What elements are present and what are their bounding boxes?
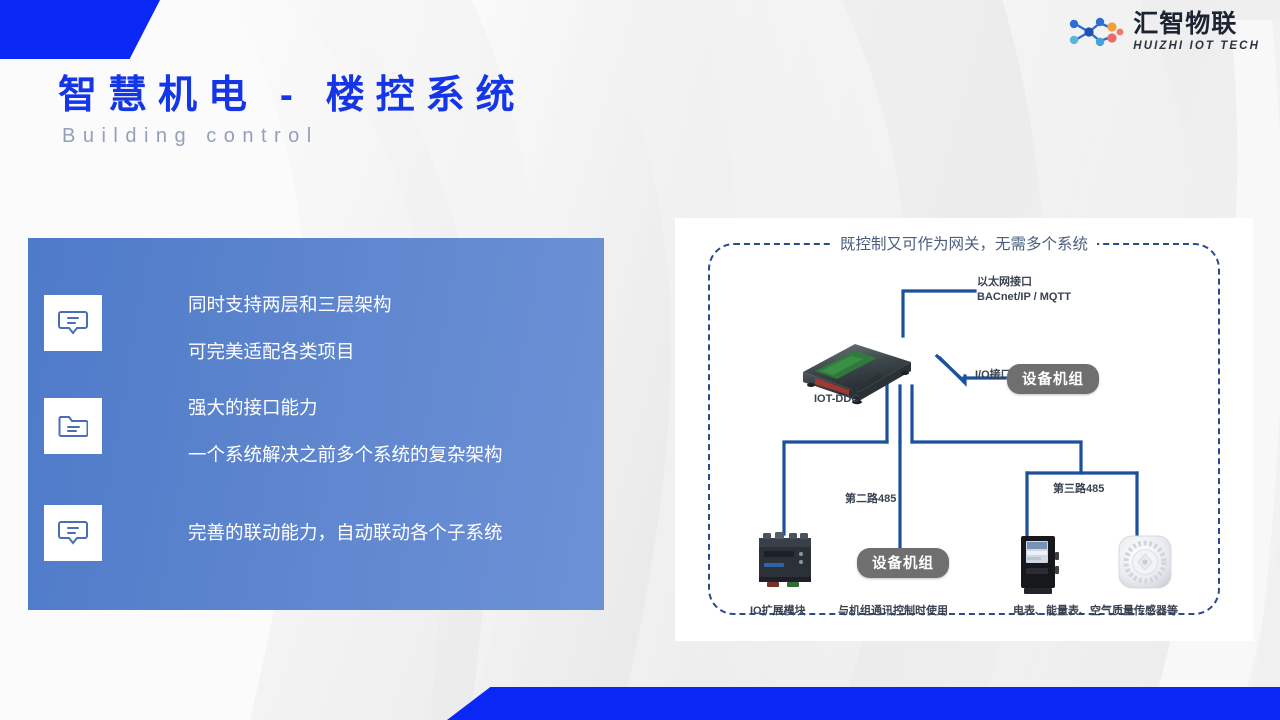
- feature-item-1-text: 同时支持两层和三层架构 可完美适配各类项目: [188, 296, 392, 361]
- equipment-unit-pill-bottom: 设备机组: [857, 548, 949, 578]
- node-label-meters-sensors: 电表、能量表、空气质量传感器等: [1013, 602, 1178, 618]
- feature-item-2-text: 强大的接口能力 一个系统解决之前多个系统的复杂架构: [188, 399, 503, 464]
- page-title: 智慧机电 - 楼控系统: [58, 64, 526, 120]
- slide-root: 汇智物联 HUIZHI IOT TECH 智慧机电 - 楼控系统 Buildin…: [0, 0, 1280, 720]
- air-quality-sensor-image: [1115, 532, 1175, 592]
- bus-3-label: 第三路485: [1053, 480, 1104, 496]
- equipment-unit-pill-top: 设备机组: [1007, 364, 1099, 394]
- feature-line: 强大的接口能力: [188, 399, 503, 418]
- brand-logo: 汇智物联 HUIZHI IOT TECH: [1067, 12, 1260, 53]
- feature-item-3: 完善的联动能力，自动联动各个子系统: [44, 505, 503, 561]
- feature-item-2: 强大的接口能力 一个系统解决之前多个系统的复杂架构: [44, 398, 503, 464]
- folder-document-icon: [44, 398, 102, 454]
- logo-english-name: HUIZHI IOT TECH: [1133, 41, 1260, 53]
- controller-name-label: IOT-DDC: [814, 393, 859, 405]
- electric-meter-image: [1015, 534, 1063, 596]
- speech-bubble-icon: [44, 295, 102, 351]
- page-subtitle: Building control: [62, 125, 319, 148]
- feature-line: 完善的联动能力，自动联动各个子系统: [188, 524, 503, 543]
- node-label-io-module: IO扩展模块: [750, 602, 806, 618]
- ethernet-port-label-line1: 以太网接口: [977, 273, 1032, 289]
- bottom-right-accent-shape: [447, 687, 1280, 720]
- ethernet-protocol-label: BACnet/IP / MQTT: [977, 291, 1071, 303]
- feature-item-1: 同时支持两层和三层架构 可完美适配各类项目: [44, 295, 392, 361]
- bus-2-label: 第二路485: [845, 490, 896, 506]
- feature-line: 一个系统解决之前多个系统的复杂架构: [188, 446, 503, 465]
- feature-item-3-text: 完善的联动能力，自动联动各个子系统: [188, 524, 503, 543]
- speech-bubble-icon: [44, 505, 102, 561]
- io-expansion-module-image: [753, 530, 817, 592]
- architecture-diagram-card: 既控制又可作为网关，无需多个系统: [675, 218, 1253, 641]
- feature-line: 可完美适配各类项目: [188, 343, 392, 362]
- feature-panel: 同时支持两层和三层架构 可完美适配各类项目 强大的接口能力 一个系统解决之前多个…: [28, 238, 604, 610]
- node-label-unit-comm: 与机组通讯控制时使用: [838, 602, 948, 618]
- molecule-network-icon: [1067, 15, 1125, 49]
- logo-chinese-name: 汇智物联: [1133, 12, 1260, 37]
- feature-line: 同时支持两层和三层架构: [188, 296, 392, 315]
